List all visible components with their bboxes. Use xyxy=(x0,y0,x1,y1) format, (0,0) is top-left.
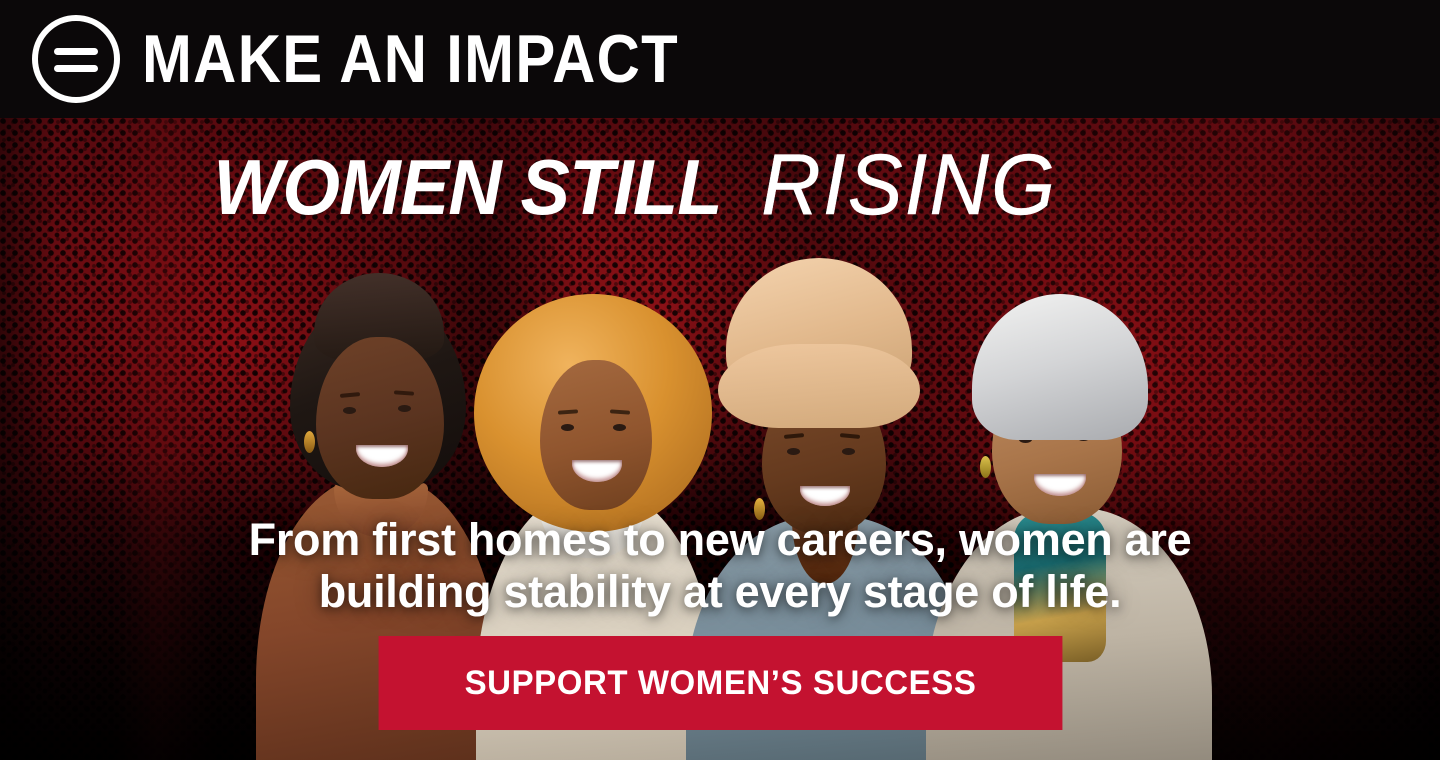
hero-headline: WOMEN STILL RISING xyxy=(200,142,1063,228)
woman-3-eye-left xyxy=(787,448,800,455)
woman-2-smile xyxy=(572,460,622,482)
woman-2-face xyxy=(540,360,652,510)
subheadline-line-1: From first homes to new careers, women a… xyxy=(160,514,1280,566)
woman-2-eye-left xyxy=(561,424,574,431)
hero-banner: WOMEN STILL RISING From first homes to n… xyxy=(0,118,1440,760)
impact-banner-page: MAKE AN IMPACT xyxy=(0,0,1440,760)
headline-thin-text: RISING xyxy=(761,142,1057,228)
equals-icon-bar-bottom xyxy=(54,65,98,72)
woman-4-hair xyxy=(972,294,1148,440)
woman-2-brow-right xyxy=(610,409,630,414)
equals-in-circle-icon xyxy=(32,15,120,103)
woman-2-brow-left xyxy=(558,409,578,414)
topbar-title: MAKE AN IMPACT xyxy=(142,25,679,93)
woman-1-earring xyxy=(304,431,315,453)
woman-1-smile xyxy=(356,445,408,467)
headline-bold-text: WOMEN STILL xyxy=(213,148,721,226)
woman-1-brow-left xyxy=(340,392,360,398)
support-womens-success-button[interactable]: SUPPORT WOMEN’S SUCCESS xyxy=(378,636,1062,730)
woman-1-brow-right xyxy=(394,390,414,395)
woman-1-eye-right xyxy=(398,405,411,412)
woman-3-brow-left xyxy=(784,433,804,439)
woman-4-smile xyxy=(1034,474,1086,496)
woman-3-brow-right xyxy=(840,433,860,439)
equals-icon-ring xyxy=(32,15,120,103)
hero-subheadline: From first homes to new careers, women a… xyxy=(0,514,1440,618)
woman-3-smile xyxy=(800,486,850,506)
woman-4-earring xyxy=(980,456,991,478)
equals-icon-bar-top xyxy=(54,48,98,55)
cta-container: SUPPORT WOMEN’S SUCCESS xyxy=(0,636,1440,730)
subheadline-line-2: building stability at every stage of lif… xyxy=(160,566,1280,618)
woman-1-eye-left xyxy=(343,407,356,414)
woman-3-head-wrap-band xyxy=(718,344,920,428)
topbar: MAKE AN IMPACT xyxy=(0,0,1440,118)
woman-3-eye-right xyxy=(842,448,855,455)
woman-2-eye-right xyxy=(613,424,626,431)
woman-1-face xyxy=(316,337,444,499)
